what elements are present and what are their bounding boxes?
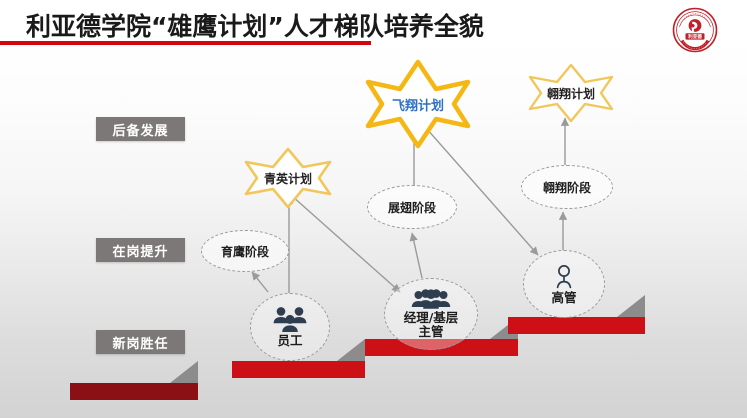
phase-node-nurture-eagle[interactable]: 育鹰阶段	[201, 230, 289, 272]
role-node-executive[interactable]: 高管	[523, 250, 605, 318]
connector-staff-to-nurture-eagle	[252, 272, 268, 292]
stage-label-new-post-competency: 新岗胜任	[96, 330, 185, 354]
group-of-three-people-icon	[271, 306, 309, 333]
six-point-star-icon	[516, 62, 626, 124]
program-star-hover-plan[interactable]: 翱翔计划	[516, 62, 626, 124]
role-node-staff[interactable]: 员工	[250, 293, 330, 361]
program-star-elite-plan[interactable]: 青英计划	[232, 146, 344, 210]
role-node-staff-label: 员工	[277, 334, 302, 348]
single-person-outline-icon	[551, 264, 577, 290]
connector-manager-to-spread-wings	[412, 233, 422, 278]
phase-node-soaring[interactable]: 翱翔阶段	[521, 165, 613, 209]
role-node-executive-label: 高管	[551, 291, 576, 305]
stage-label-reserve-development: 后备发展	[96, 117, 185, 141]
phase-node-spread-wings[interactable]: 展翅阶段	[367, 185, 457, 229]
group-of-people-icon	[411, 289, 451, 310]
six-point-star-icon	[232, 146, 344, 210]
stage-label-on-the-job-advancement: 在岗提升	[96, 238, 185, 262]
role-node-manager-label: 经理/基层 主管	[404, 311, 459, 339]
program-star-soar-plan[interactable]: 飞翔计划	[352, 58, 484, 150]
slide-canvas: 利亚德学院“雄鹰计划”人才梯队培养全貌 利亚德	[0, 0, 747, 418]
role-node-manager[interactable]: 经理/基层 主管	[384, 278, 478, 350]
six-point-star-icon	[352, 58, 484, 150]
